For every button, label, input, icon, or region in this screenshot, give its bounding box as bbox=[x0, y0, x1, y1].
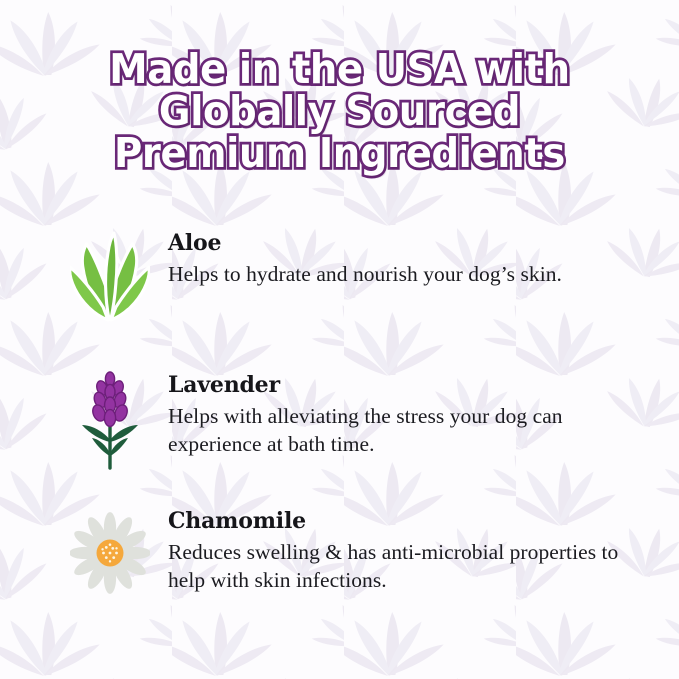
ingredients-infographic: Made in the USA with Globally Sourced Pr… bbox=[0, 0, 679, 679]
ingredient-description-chamomile: Reduces swelling & has anti-microbial pr… bbox=[168, 538, 620, 594]
chamomile-flower-icon bbox=[70, 510, 150, 596]
ingredient-description-aloe: Helps to hydrate and nourish your dog’s … bbox=[168, 260, 620, 288]
ingredient-name-aloe: Aloe bbox=[168, 230, 679, 257]
headline-line-3: Premium Ingredients bbox=[20, 132, 658, 174]
ingredient-name-lavender: Lavender bbox=[168, 372, 679, 399]
lavender-flower-icon bbox=[77, 370, 143, 470]
aloe-icon-wrapper bbox=[70, 228, 150, 322]
ingredient-name-chamomile: Chamomile bbox=[168, 508, 679, 535]
headline: Made in the USA with Globally Sourced Pr… bbox=[0, 48, 679, 174]
headline-line-1: Made in the USA with bbox=[20, 48, 658, 90]
lavender-text-block: Lavender Helps with alleviating the stre… bbox=[150, 370, 679, 458]
ingredient-list: Aloe Helps to hydrate and nourish your d… bbox=[0, 228, 679, 596]
ingredient-item-lavender: Lavender Helps with alleviating the stre… bbox=[0, 370, 679, 470]
aloe-plant-icon bbox=[70, 230, 150, 322]
lavender-icon-wrapper bbox=[70, 370, 150, 470]
headline-line-2: Globally Sourced bbox=[20, 90, 658, 132]
ingredient-item-chamomile: Chamomile Reduces swelling & has anti-mi… bbox=[0, 506, 679, 596]
ingredient-description-lavender: Helps with alleviating the stress your d… bbox=[168, 402, 620, 458]
chamomile-icon-wrapper bbox=[70, 506, 150, 596]
ingredient-item-aloe: Aloe Helps to hydrate and nourish your d… bbox=[0, 228, 679, 322]
chamomile-text-block: Chamomile Reduces swelling & has anti-mi… bbox=[150, 506, 679, 594]
aloe-text-block: Aloe Helps to hydrate and nourish your d… bbox=[150, 228, 679, 288]
